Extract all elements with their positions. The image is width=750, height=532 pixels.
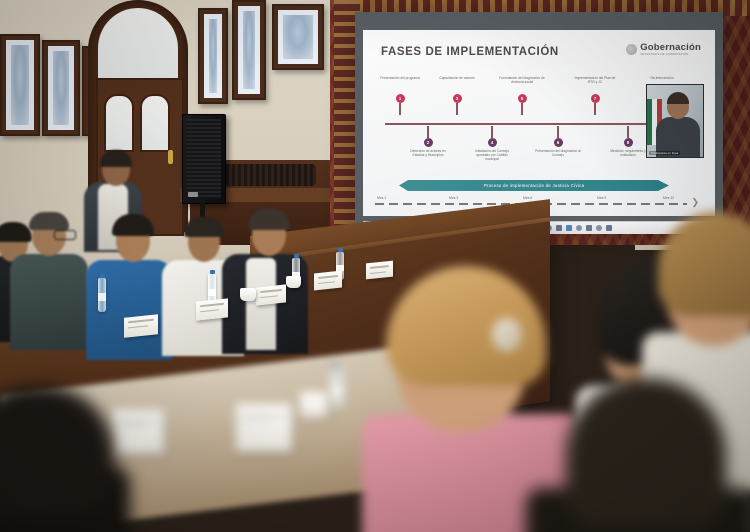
name-card xyxy=(196,298,228,320)
eagle-emblem-icon xyxy=(626,44,637,55)
timeline-node: Presentación del programa 1 xyxy=(377,76,423,115)
paper-cup xyxy=(286,276,301,288)
name-card xyxy=(112,410,164,454)
name-card xyxy=(314,271,342,291)
framed-portrait xyxy=(198,8,228,104)
node-label: Medición, seguimiento y evaluación xyxy=(605,149,651,157)
timeline-node: 2 Detección de actores en Estados y Muni… xyxy=(405,126,451,157)
node-label: Presentación del programa xyxy=(377,76,423,92)
month-label: Mes 9 xyxy=(597,196,606,200)
app-icon[interactable] xyxy=(556,225,562,231)
name-card xyxy=(236,404,292,452)
pa-speaker xyxy=(182,114,226,204)
month-label: Mes 6 xyxy=(523,196,532,200)
node-label: Instalación del Consejo aprobado por Cab… xyxy=(469,149,515,161)
month-label: Mes 1 xyxy=(377,196,386,200)
node-number: 2 xyxy=(424,138,433,147)
logo-name: Gobernación xyxy=(640,43,701,53)
app-icon[interactable] xyxy=(606,225,612,231)
app-icon[interactable] xyxy=(596,225,602,231)
node-number: 1 xyxy=(396,94,405,103)
timeline-node: 4 Instalación del Consejo aprobado por C… xyxy=(469,126,515,161)
framed-portrait xyxy=(272,4,324,70)
timeline-node: 8 Medición, seguimiento y evaluación xyxy=(605,126,651,157)
node-number: 4 xyxy=(488,138,497,147)
app-icon[interactable] xyxy=(586,225,592,231)
door-window-left xyxy=(104,94,134,152)
participant-name-label: Participante en línea xyxy=(649,151,680,155)
framed-portrait xyxy=(0,34,40,136)
framed-portrait xyxy=(42,40,80,136)
hair-clip xyxy=(492,318,522,352)
door-arch-glass xyxy=(98,8,178,86)
node-number: 7 xyxy=(591,94,600,103)
node-number: 8 xyxy=(624,138,633,147)
name-card xyxy=(124,314,158,338)
share-icon[interactable] xyxy=(576,225,582,231)
gobernacion-logo: Gobernación SECRETARÍA DE GOBERNACIÓN xyxy=(626,43,701,56)
water-bottle xyxy=(98,278,106,312)
process-banner-label: Proceso de implementación de Justicia Cí… xyxy=(484,183,585,188)
timeline-node: 6 Presentación del diagnóstico al Consej… xyxy=(535,126,581,157)
name-card xyxy=(366,261,393,280)
name-card xyxy=(256,284,286,305)
eyeglasses xyxy=(54,230,76,240)
door-window-right xyxy=(140,94,170,152)
node-label: Capacitación de actores xyxy=(434,76,480,92)
teams-icon[interactable] xyxy=(566,225,572,231)
water-bottle xyxy=(330,368,344,408)
timeline-node: Implementación del Plan de RTG y JC 7 xyxy=(572,76,618,115)
month-label: Mes 3 xyxy=(449,196,458,200)
chevron-right-icon: ❯ xyxy=(691,198,699,207)
month-label: Mes 12 xyxy=(663,196,674,200)
logo-subtitle: SECRETARÍA DE GOBERNACIÓN xyxy=(640,54,701,57)
timeline-node: Formulación del diagnóstico de violencia… xyxy=(499,76,545,115)
timeline-node: Capacitación de actores 3 xyxy=(434,76,480,115)
meeting-room-photo: FASES DE IMPLEMENTACIÓN Gobernación SECR… xyxy=(0,0,750,532)
process-banner: Proceso de implementación de Justicia Cí… xyxy=(399,180,669,191)
node-number: 5 xyxy=(518,94,527,103)
paper-cup xyxy=(300,392,328,418)
node-label: Presentación del diagnóstico al Consejo xyxy=(535,149,581,157)
framed-portrait xyxy=(232,0,266,100)
node-number: 6 xyxy=(554,138,563,147)
slide-title: FASES DE IMPLEMENTACIÓN xyxy=(381,46,559,58)
door-handle xyxy=(168,150,173,164)
node-label: Detección de actores en Estados y Munici… xyxy=(405,149,451,157)
node-label: Implementación del Plan de RTG y JC xyxy=(572,76,618,92)
video-call-thumbnail[interactable]: Participante en línea xyxy=(646,84,704,158)
paper-cup xyxy=(240,288,256,301)
node-number: 3 xyxy=(453,94,462,103)
node-label: Formulación del diagnóstico de violencia… xyxy=(499,76,545,92)
